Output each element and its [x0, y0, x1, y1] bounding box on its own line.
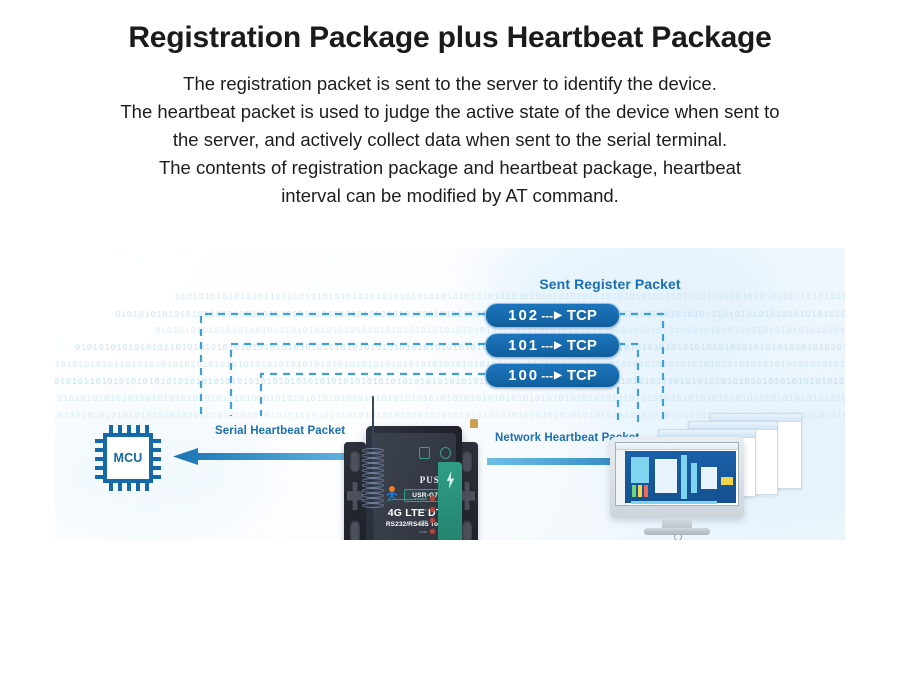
packet-protocol: TCP: [567, 337, 597, 354]
mcu-pin: [127, 482, 131, 491]
hmi-element: [632, 485, 636, 497]
hmi-pipe: [631, 501, 717, 504]
mcu-pin: [152, 457, 161, 461]
hmi-element: [644, 485, 648, 497]
mcu-body: MCU: [103, 433, 153, 483]
packet-connector: ---: [541, 309, 553, 323]
intro-line-4: The contents of registration package and…: [55, 154, 845, 182]
hmi-element: [691, 463, 697, 493]
mcu-pin: [118, 482, 122, 491]
mcu-pin: [152, 448, 161, 452]
hmi-element: [701, 467, 717, 489]
arrow-right-icon: ▶: [554, 310, 563, 321]
reset-button-icon[interactable]: [440, 447, 451, 459]
device-green-panel: [438, 462, 462, 540]
intro-line-1: The registration packet is sent to the s…: [55, 70, 845, 98]
hmi-element: [638, 485, 642, 497]
packet-protocol: TCP: [567, 367, 597, 384]
packet-badge-102[interactable]: 102---▶TCP: [485, 303, 620, 328]
intro-line-2: The heartbeat packet is used to judge th…: [55, 98, 845, 126]
hmi-element: [655, 459, 677, 493]
lightning-bolt-icon: [445, 471, 456, 489]
packet-badge-101[interactable]: 101---▶TCP: [485, 333, 620, 358]
bracket-slot: [462, 450, 472, 472]
mcu-pin: [109, 482, 113, 491]
packet-id: 101: [508, 337, 539, 354]
sent-register-packet-label: Sent Register Packet: [490, 276, 730, 292]
scada-toolbar: [616, 443, 738, 450]
led-dot: [430, 496, 435, 501]
scada-canvas: [625, 451, 736, 503]
bracket-slot: [462, 520, 472, 540]
packet-id: 102: [508, 307, 539, 324]
mcu-pin: [152, 439, 161, 443]
arrow-right-icon: ▶: [554, 340, 563, 351]
monitor-frame: [610, 437, 744, 518]
mcu-pin: [152, 475, 161, 479]
mcu-pin: [152, 466, 161, 470]
monitor-base: [644, 528, 710, 535]
hmi-element: [631, 457, 649, 483]
intro-line-5: interval can be modified by AT command.: [55, 182, 845, 210]
monitor-screen[interactable]: [615, 442, 739, 506]
antenna-coil: [362, 448, 384, 508]
packet-badge-100[interactable]: 100---▶TCP: [485, 363, 620, 388]
packet-protocol: TCP: [567, 307, 597, 324]
led-dot: [430, 507, 435, 512]
mcu-pin: [136, 482, 140, 491]
led-dot: [430, 529, 435, 534]
packet-id: 100: [508, 367, 539, 384]
mcu-pin: [145, 482, 149, 491]
hmi-element: [681, 455, 687, 499]
server-monitor: [610, 411, 805, 536]
mcu-chip-icon: MCU: [95, 425, 161, 491]
intro-line-3: the server, and actively collect data wh…: [55, 126, 845, 154]
packet-connector: ---: [541, 339, 553, 353]
led-dot: [430, 518, 435, 523]
antenna-connector: [470, 419, 478, 428]
hmi-element: [721, 477, 733, 485]
network-topology-diagram: 0101010101010101101010101010101010101010…: [55, 248, 845, 540]
packet-connector: ---: [541, 369, 553, 383]
arrow-right-icon: ▶: [554, 370, 563, 381]
page-title: Registration Package plus Heartbeat Pack…: [0, 20, 900, 56]
magnetic-antenna: [320, 396, 430, 540]
intro-paragraph: The registration packet is sent to the s…: [55, 70, 845, 211]
mcu-label: MCU: [113, 451, 142, 465]
